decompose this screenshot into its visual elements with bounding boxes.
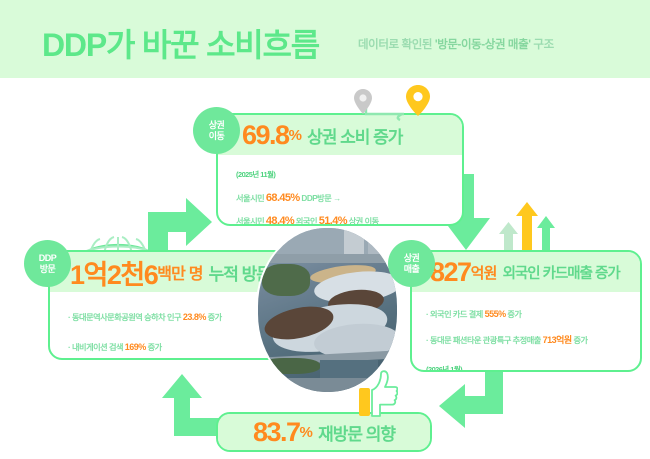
date-label: (2025년 11월) xyxy=(236,170,275,179)
header-banner: DDP가 바꾼 소비흐름 데이터로 확인된 '방문-이동-상권 매출' 구조 xyxy=(0,0,650,78)
badge-sales: 상권 매출 xyxy=(388,240,435,287)
badge-visit: DDP 방문 xyxy=(24,240,71,287)
badge-sales-line1: 상권 xyxy=(404,253,420,263)
badge-move: 상권 이동 xyxy=(193,107,240,154)
map-pin-yellow-icon xyxy=(404,84,432,118)
card-sales-line-2: (2026년 1월) xyxy=(426,356,628,372)
card-move-value: 69.8 xyxy=(242,120,289,151)
card-sales-body: · 외국인 카드 결제 555% 증가 · 동대문 패션타운 관광특구 추정매출… xyxy=(412,292,640,372)
map-pin-gray-icon xyxy=(352,88,374,116)
date-label: (2026년 1월) xyxy=(426,365,462,372)
badge-sales-line2: 매출 xyxy=(404,264,420,274)
badge-visit-line1: DDP xyxy=(39,253,57,263)
card-sales-line-1: · 동대문 패션타운 관광특구 추정매출 713억원 증가 xyxy=(426,327,628,350)
card-move-label: 상권 소비 증가 xyxy=(307,123,402,148)
card-visit-value: 1억2천6 xyxy=(70,253,157,292)
arrow-left-icon xyxy=(425,370,505,432)
card-visit-line-0: · 동대문역사문화공원역 승하차 인구 23.8% 증가 xyxy=(68,304,274,327)
infographic-page: DDP가 바꾼 소비흐름 데이터로 확인된 '방문-이동-상권 매출' 구조 상… xyxy=(0,0,650,459)
card-visit-unit: 백만 명 xyxy=(157,260,202,284)
photo-park xyxy=(262,264,310,296)
subtitle-bold: '방문-이동-상권 매출' xyxy=(435,39,531,51)
card-sales-line-0: · 외국인 카드 결제 555% 증가 xyxy=(426,301,628,324)
page-subtitle: 데이터로 확인된 '방문-이동-상권 매출' 구조 xyxy=(358,36,554,52)
card-move[interactable]: 69.8 % 상권 소비 증가 (2025년 11월) 서울시민 68.45% … xyxy=(216,113,464,226)
card-move-unit: % xyxy=(289,127,302,144)
thumbs-up-icon xyxy=(358,370,398,418)
card-visit-body: · 동대문역사문화공원역 승하차 인구 23.8% 증가 · 내비게이션 검색 … xyxy=(50,292,286,360)
card-visit-head: 1억2천6 백만 명 누적 방문 xyxy=(50,252,286,292)
card-revisit-value: 83.7 xyxy=(253,417,300,448)
card-sales-unit: 억원 xyxy=(471,262,497,283)
card-visit[interactable]: 1억2천6 백만 명 누적 방문 · 동대문역사문화공원역 승하차 인구 23.… xyxy=(48,250,288,360)
badge-move-line2: 이동 xyxy=(209,131,225,141)
card-move-line-2: 서울시민 48.4% 외국인 51.4% 상권 이동 xyxy=(236,208,450,226)
card-move-line-0: (2025년 11월) xyxy=(236,161,450,184)
card-revisit-unit: % xyxy=(300,424,313,441)
badge-move-line1: 상권 xyxy=(209,120,225,130)
card-move-head: 69.8 % 상권 소비 증가 xyxy=(218,115,462,155)
photo-trees xyxy=(260,358,320,374)
card-revisit-label: 재방문 의향 xyxy=(318,420,395,445)
page-title: DDP가 바꾼 소비흐름 xyxy=(42,20,319,66)
card-move-line-1: 서울시민 68.45% DDP방문 → xyxy=(236,185,450,208)
card-sales-value: 827 xyxy=(430,257,471,288)
photo-road-top xyxy=(258,254,399,263)
card-revisit[interactable]: 83.7 % 재방문 의향 xyxy=(216,412,432,452)
card-sales-head: 827 억원 외국인 카드매출 증가 xyxy=(412,252,640,292)
subtitle-post: 구조 xyxy=(531,39,554,51)
card-sales[interactable]: 827 억원 외국인 카드매출 증가 · 외국인 카드 결제 555% 증가 ·… xyxy=(410,250,642,372)
card-visit-line-1: · 내비게이션 검색 169% 증가 xyxy=(68,334,274,357)
badge-visit-line2: 방문 xyxy=(40,264,56,274)
card-revisit-head: 83.7 % 재방문 의향 xyxy=(218,414,430,450)
card-sales-label: 외국인 카드매출 증가 xyxy=(503,262,620,283)
ddp-aerial-photo xyxy=(256,226,399,394)
card-move-body: (2025년 11월) 서울시민 68.45% DDP방문 → 서울시민 48.… xyxy=(218,155,462,226)
subtitle-pre: 데이터로 확인된 xyxy=(358,39,435,51)
